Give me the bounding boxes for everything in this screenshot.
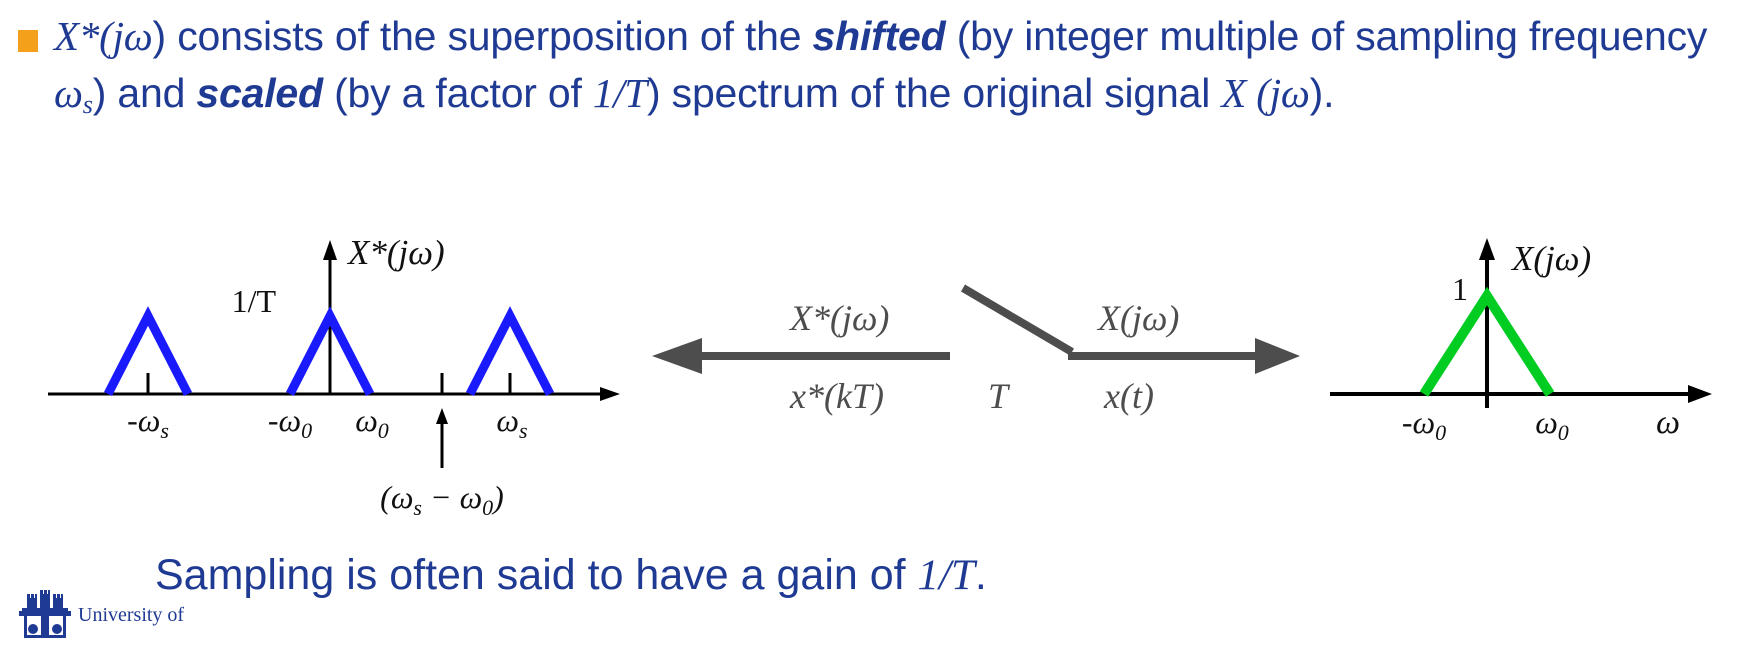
chart-original-spectrum: X(jω) 1 -ω0 ω0 ω [1330, 238, 1712, 445]
bottom-statement: Sampling is often said to have a gain of… [155, 552, 987, 599]
bullet-paragraph: X*(jω) consists of the superposition of … [54, 8, 1708, 123]
bullet-seg-5: (by a factor of [323, 70, 593, 116]
bullet-paragraph-block: X*(jω) consists of the superposition of … [8, 8, 1708, 123]
university-logo: University of [14, 588, 164, 644]
peak-label-one-over-t: 1/T [232, 283, 277, 319]
bottom-part-gain: 1/T [918, 552, 975, 599]
bullet-seg-8: ). [1310, 70, 1335, 116]
bullet-seg-one-over-t: 1/T [593, 70, 647, 116]
castle-crest-icon [14, 588, 76, 640]
xtick-label-minus-omega-0-right: -ω0 [1402, 404, 1446, 445]
bullet-seg-7: (j [1246, 70, 1281, 116]
chart-sampled-spectrum: X*(jω) 1/T -ωs -ω0 ω0 ωs (ωs − ω0) [48, 233, 620, 520]
switch-arm [963, 288, 1072, 352]
bullet-seg-omega2: ω [1281, 70, 1310, 116]
xtick-label-omega-s: ωs [496, 402, 527, 443]
y-axis-arrowhead [323, 240, 337, 260]
callout-arrow-head [436, 408, 448, 424]
university-logo-name: University of [78, 604, 184, 627]
left-arrow-label-below: x*(kT) [789, 376, 884, 416]
bullet-seg-omega-s: ω [54, 70, 83, 116]
xtick-label-omega-0-right: ω0 [1535, 404, 1569, 445]
right-arm-label-above: X(jω) [1096, 298, 1179, 338]
bullet-seg-x: X [1221, 70, 1246, 116]
x-axis-arrowhead [600, 387, 620, 401]
bullet-seg-scaled: scaled [196, 70, 322, 116]
bullet-seg-6: ) spectrum of the original signal [647, 70, 1221, 116]
bullet-seg-2: ) consists of the superposition of the [153, 13, 813, 59]
bottom-part-2: . [975, 551, 987, 599]
bullet-seg-omega: ω [124, 13, 153, 59]
bullet-seg-3: (by integer multiple of sampling frequen… [946, 13, 1708, 59]
y-axis-arrowhead-right [1479, 238, 1495, 260]
bullet-seg-1: X*(j [54, 13, 124, 59]
right-arrow-head [1255, 338, 1300, 374]
peak-label-one: 1 [1452, 271, 1468, 307]
bullet-seg-omega-s-sub: s [83, 89, 93, 118]
sampling-spectrum-figure: X*(jω) 1/T -ωs -ω0 ω0 ωs (ωs − ω0) X*(jω… [0, 228, 1750, 528]
xtick-label-minus-omega-s: -ωs [127, 402, 169, 443]
xaxis-label-omega: ω [1656, 404, 1680, 441]
left-arrow-label-above: X*(jω) [788, 298, 889, 338]
bullet-seg-4: ) and [93, 70, 197, 116]
chart-title-sampled: X*(jω) [346, 233, 445, 272]
x-axis-arrowhead-right [1688, 385, 1712, 403]
chart-title-original: X(jω) [1510, 239, 1591, 278]
left-arrow-head [652, 338, 702, 374]
right-arm-label-below: x(t) [1103, 376, 1154, 416]
square-bullet-icon [18, 30, 38, 52]
xtick-label-minus-omega-0: -ω0 [268, 402, 312, 443]
xtick-label-omega-0: ω0 [355, 402, 389, 443]
bullet-seg-shifted: shifted [813, 13, 946, 59]
bottom-part-1: Sampling is often said to have a gain of [155, 551, 918, 599]
sampler-flow-diagram: X*(jω) x*(kT) T X(jω) x(t) [652, 288, 1300, 416]
callout-annotation: (ωs − ω0) [380, 479, 504, 520]
switch-period-label: T [988, 376, 1011, 416]
